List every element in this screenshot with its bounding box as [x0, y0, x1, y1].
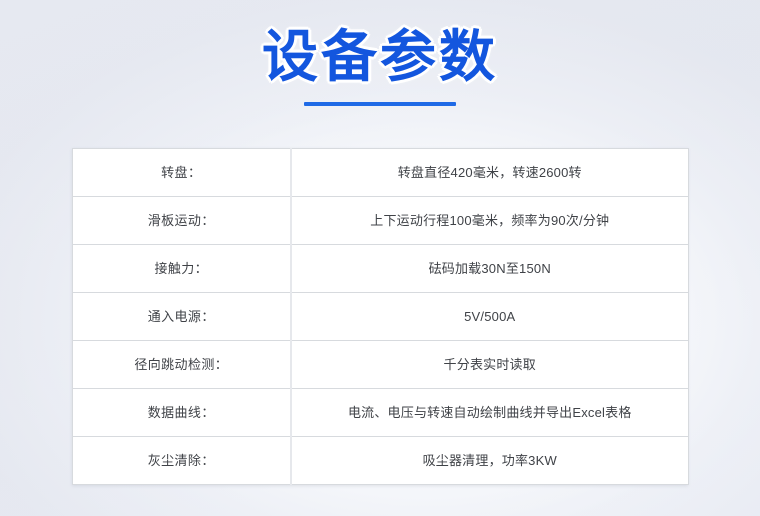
spec-value: 千分表实时读取 [291, 341, 689, 389]
spec-label: 灰尘清除： [73, 437, 291, 485]
table-row: 径向跳动检测： 千分表实时读取 [73, 341, 689, 389]
spec-value: 转盘直径420毫米，转速2600转 [291, 149, 689, 197]
spec-label: 数据曲线： [73, 389, 291, 437]
spec-label: 接触力： [73, 245, 291, 293]
spec-table-container: 转盘： 转盘直径420毫米，转速2600转 滑板运动： 上下运动行程100毫米，… [72, 148, 688, 485]
spec-label: 径向跳动检测： [73, 341, 291, 389]
title-underline-bar [304, 102, 456, 106]
spec-label: 通入电源： [73, 293, 291, 341]
spec-table-body: 转盘： 转盘直径420毫米，转速2600转 滑板运动： 上下运动行程100毫米，… [73, 149, 689, 485]
table-row: 滑板运动： 上下运动行程100毫米，频率为90次/分钟 [73, 197, 689, 245]
table-row: 数据曲线： 电流、电压与转速自动绘制曲线并导出Excel表格 [73, 389, 689, 437]
table-row: 转盘： 转盘直径420毫米，转速2600转 [73, 149, 689, 197]
spec-label: 滑板运动： [73, 197, 291, 245]
table-row: 灰尘清除： 吸尘器清理，功率3KW [73, 437, 689, 485]
page-root: 设备参数 转盘： 转盘直径420毫米，转速2600转 滑板运动： 上下运动行程1… [0, 0, 760, 516]
page-title: 设备参数 [262, 26, 498, 90]
table-row: 通入电源： 5V/500A [73, 293, 689, 341]
spec-value: 吸尘器清理，功率3KW [291, 437, 689, 485]
spec-value: 上下运动行程100毫米，频率为90次/分钟 [291, 197, 689, 245]
page-title-block: 设备参数 [0, 26, 760, 106]
spec-value: 电流、电压与转速自动绘制曲线并导出Excel表格 [291, 389, 689, 437]
spec-label: 转盘： [73, 149, 291, 197]
spec-value: 砝码加载30N至150N [291, 245, 689, 293]
table-row: 接触力： 砝码加载30N至150N [73, 245, 689, 293]
spec-value: 5V/500A [291, 293, 689, 341]
spec-table: 转盘： 转盘直径420毫米，转速2600转 滑板运动： 上下运动行程100毫米，… [72, 148, 689, 485]
